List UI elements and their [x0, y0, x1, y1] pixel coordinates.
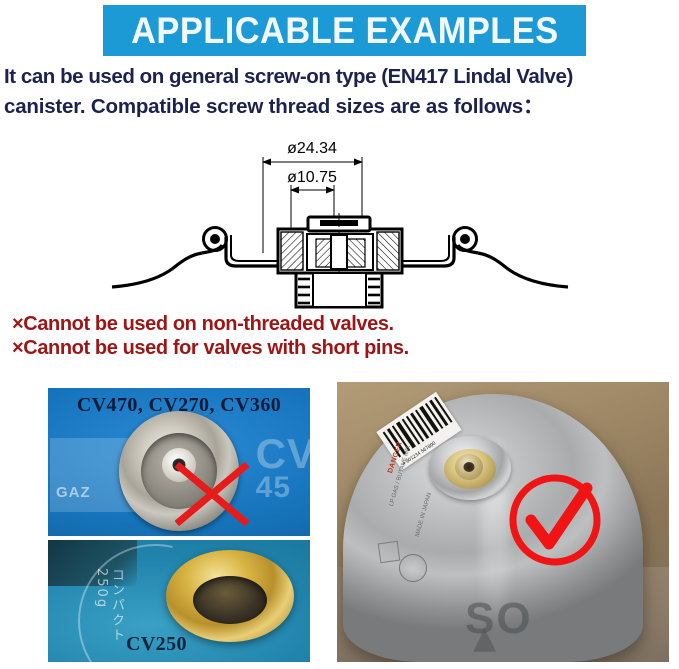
warning-line-2: ×Cannot be used for valves with short pi…	[12, 336, 409, 360]
warning-list: ×Cannot be used on non-threaded valves. …	[12, 312, 409, 360]
brand-chevron-icon: ▲	[473, 621, 496, 656]
watermark-cv: CV	[256, 430, 310, 477]
warning-text-1: Cannot be used on non-threaded valves.	[23, 313, 393, 335]
infographic-page: APPLICABLE EXAMPLES It can be used on ge…	[0, 0, 679, 669]
photo-cv470-canister: CV 45 GAZ CV470, CV270, CV360	[48, 388, 310, 536]
cross-icon: ×	[12, 313, 23, 335]
valve-pin	[455, 454, 483, 480]
dimension-inner-label: ø10.75	[287, 169, 337, 186]
cross-icon: ×	[12, 337, 23, 359]
red-x-mark	[166, 448, 258, 536]
photo-compatible-canister: 4 901234 567890 DANGER LP GAS / BUTANE M…	[337, 382, 669, 662]
warning-line-1: ×Cannot be used on non-threaded valves.	[12, 312, 409, 336]
brand-text: GAZ	[56, 484, 91, 501]
photo-caption-cv470: CV470, CV270, CV360	[48, 394, 310, 417]
header-banner: APPLICABLE EXAMPLES	[103, 5, 586, 56]
brass-valve-rim	[166, 550, 294, 642]
certification-circle-icon	[399, 554, 427, 582]
red-check-mark	[505, 470, 605, 570]
warning-text-2: Cannot be used for valves with short pin…	[23, 337, 409, 359]
made-in-text: MADE IN JAPAN	[415, 492, 433, 537]
watermark-number: 45	[256, 474, 310, 503]
dimension-outer-label: ø24.34	[287, 140, 337, 157]
valve-technical-drawing: ø24.34 ø10.75	[110, 135, 570, 310]
page-title: APPLICABLE EXAMPLES	[131, 12, 559, 49]
photo-cv250-canister: コンパクト 250g CV250	[48, 540, 310, 662]
intro-line-2: canister. Compatible screw thread sizes …	[4, 92, 679, 122]
intro-paragraph: It can be used on general screw-on type …	[4, 62, 679, 122]
japanese-label: コンパクト 250g	[94, 568, 124, 662]
photo-caption-cv250: CV250	[126, 633, 187, 656]
canister-watermark: CV 45	[256, 434, 310, 502]
intro-line-1: It can be used on general screw-on type …	[4, 62, 679, 92]
certification-box-icon	[378, 541, 401, 564]
